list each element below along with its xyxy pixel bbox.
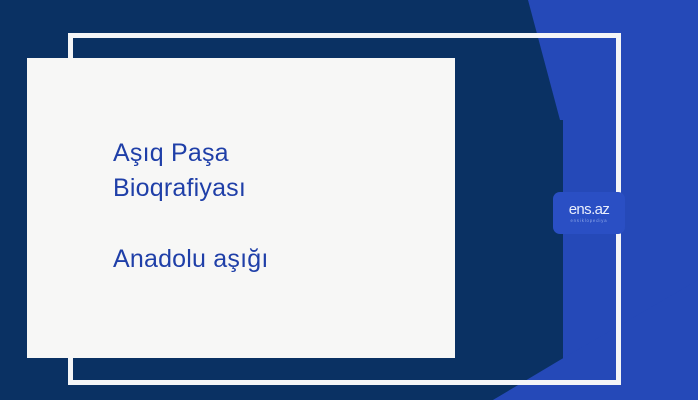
page-title-line-1: Aşıq Paşa	[113, 136, 433, 171]
ensaz-logo-badge[interactable]: ens.az ensiklopediya	[553, 192, 625, 234]
page-title-line-2: Bioqrafiyası	[113, 171, 433, 206]
page-subtitle: Anadolu aşığı	[113, 242, 433, 277]
title-slide: Aşıq Paşa Bioqrafiyası Anadolu aşığı ens…	[0, 0, 698, 400]
logo-tagline: ensiklopediya	[570, 218, 607, 224]
logo-wordmark: ens.az	[569, 202, 610, 217]
content-card: Aşıq Paşa Bioqrafiyası Anadolu aşığı	[27, 58, 455, 358]
text-block: Aşıq Paşa Bioqrafiyası Anadolu aşığı	[113, 136, 433, 277]
